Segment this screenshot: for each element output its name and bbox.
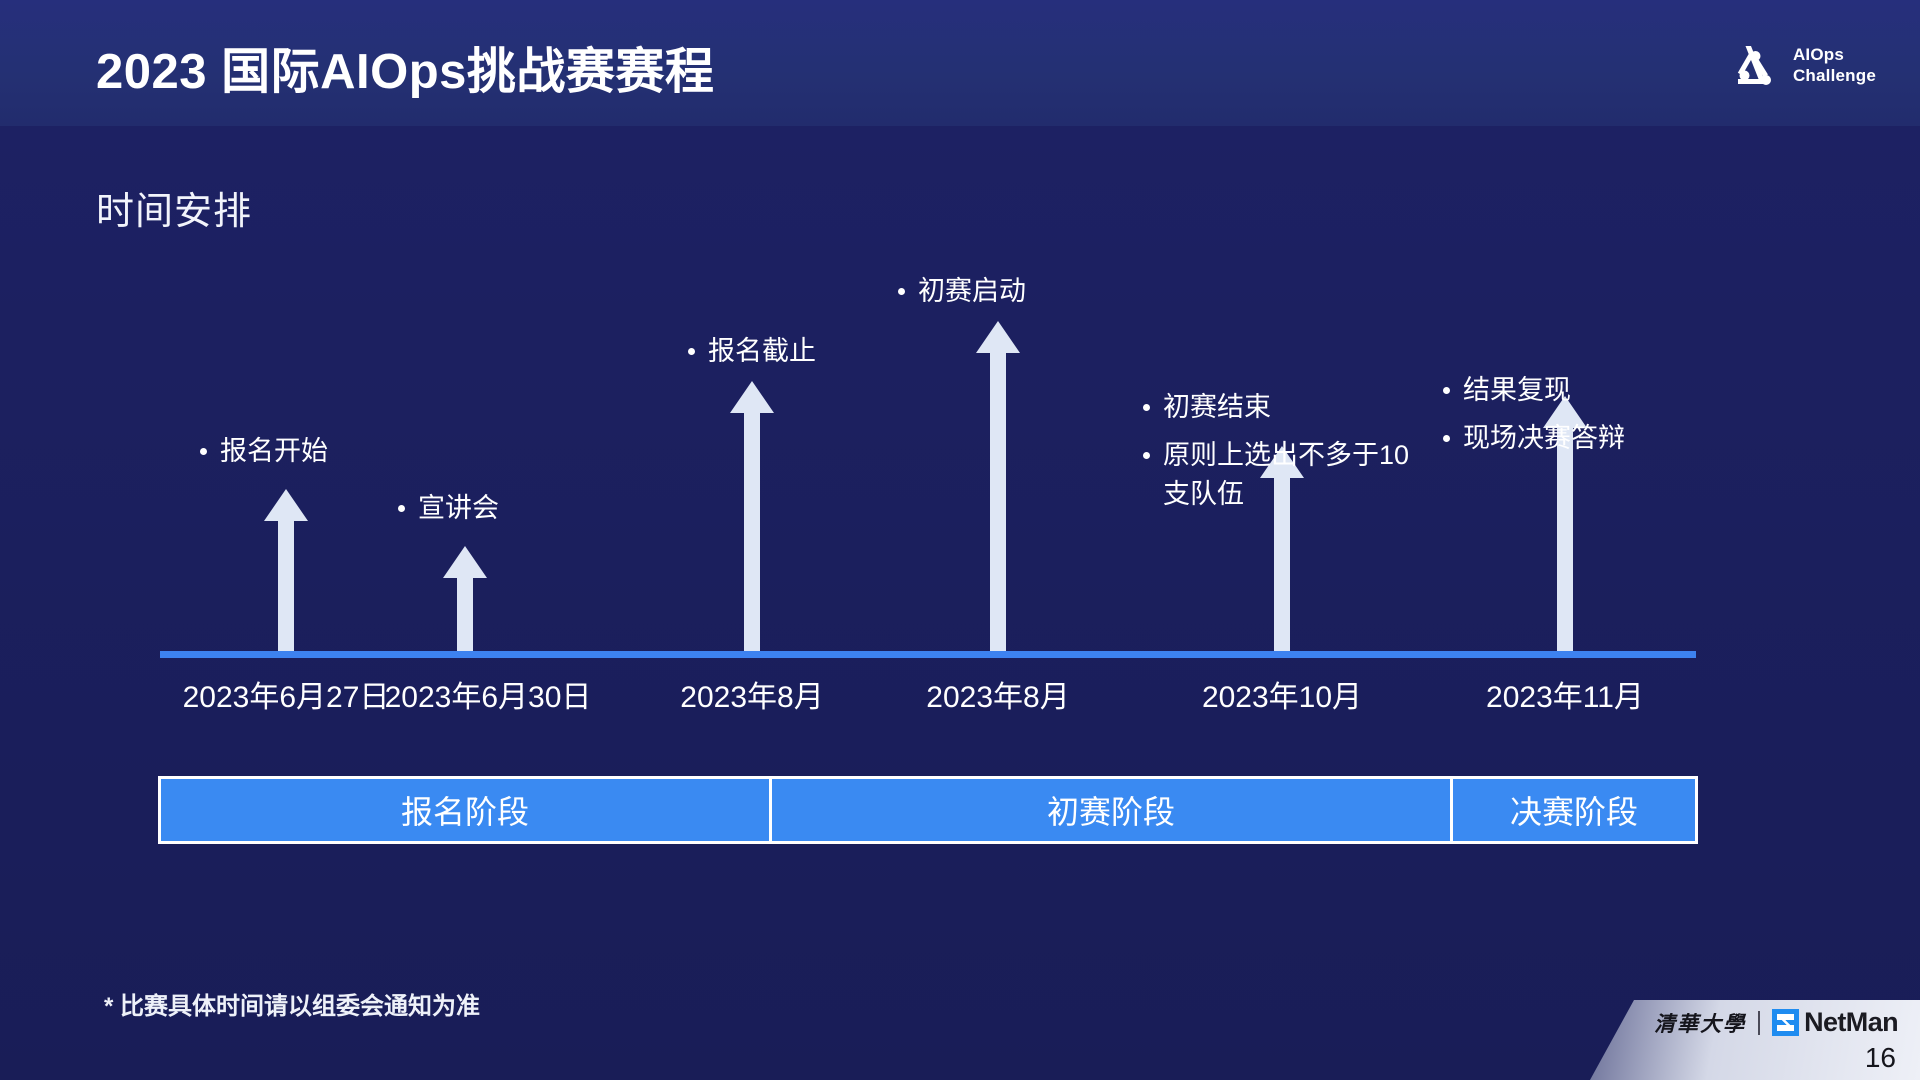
milestone-arrow-1 — [443, 546, 487, 651]
milestone-labels-0: 报名开始 — [200, 432, 328, 470]
aiops-wordmark: AIOps Challenge — [1793, 45, 1876, 86]
timeline-date-3: 2023年8月 — [883, 672, 1113, 716]
list-item: 初赛启动 — [898, 272, 1026, 310]
timeline-date-1: 2023年6月30日 — [338, 672, 638, 716]
list-item: 现场决赛答辩 — [1443, 419, 1625, 457]
timeline-date-5: 2023年11月 — [1435, 672, 1695, 716]
aiops-triangle-nodes-icon — [1725, 40, 1781, 92]
timeline-axis — [160, 651, 1696, 658]
milestone-label-text: 现场决赛答辩 — [1463, 419, 1625, 457]
bullet-icon — [898, 288, 905, 295]
footer-logos: 清華大學 NetMan — [1654, 1007, 1898, 1038]
list-item: 报名截止 — [688, 332, 816, 370]
netman-wordmark: NetMan — [1804, 1007, 1898, 1038]
milestone-label-text: 初赛结束 — [1163, 388, 1271, 426]
netman-logo: NetMan — [1772, 1007, 1898, 1038]
list-item: 报名开始 — [200, 432, 328, 470]
list-item: 原则上选出不多于10支队伍 — [1143, 436, 1413, 513]
milestone-arrow-2 — [730, 381, 774, 651]
timeline-date-2: 2023年8月 — [637, 672, 867, 716]
milestone-arrow-0 — [264, 489, 308, 651]
bullet-icon — [398, 505, 405, 512]
milestone-labels-5: 结果复现 现场决赛答辩 — [1443, 371, 1625, 458]
tsinghua-university-logo: 清華大學 — [1654, 1008, 1746, 1038]
timeline-date-4: 2023年10月 — [1152, 672, 1412, 716]
milestone-label-text: 原则上选出不多于10支队伍 — [1163, 436, 1413, 513]
page-title: 2023 国际AIOps挑战赛赛程 — [96, 32, 714, 103]
milestone-labels-3: 初赛启动 — [898, 272, 1026, 310]
milestone-labels-1: 宣讲会 — [398, 489, 499, 527]
milestone-label-text: 报名截止 — [708, 332, 816, 370]
slide-number: 16 — [1865, 1042, 1896, 1074]
milestone-label-text: 宣讲会 — [418, 489, 499, 527]
logo-line-1: AIOps — [1793, 45, 1844, 64]
bullet-icon — [1143, 452, 1150, 459]
section-heading: 时间安排 — [96, 180, 252, 235]
list-item: 初赛结束 — [1143, 388, 1413, 426]
milestone-label-text: 结果复现 — [1463, 371, 1571, 409]
bullet-icon — [1443, 435, 1450, 442]
bullet-icon — [688, 348, 695, 355]
phase-segment-final[interactable]: 决赛阶段 — [1450, 779, 1695, 841]
footnote-text: * 比赛具体时间请以组委会通知为准 — [104, 986, 480, 1021]
aiops-challenge-logo: AIOps Challenge — [1725, 40, 1876, 92]
netman-mark-icon — [1772, 1009, 1799, 1036]
milestone-labels-4: 初赛结束 原则上选出不多于10支队伍 — [1143, 388, 1413, 513]
bullet-icon — [1143, 404, 1150, 411]
milestone-labels-2: 报名截止 — [688, 332, 816, 370]
phase-bar: 报名阶段 初赛阶段 决赛阶段 — [158, 776, 1698, 844]
milestone-label-text: 报名开始 — [220, 432, 328, 470]
list-item: 结果复现 — [1443, 371, 1625, 409]
phase-segment-preliminary[interactable]: 初赛阶段 — [769, 779, 1450, 841]
footer-divider — [1758, 1011, 1760, 1035]
logo-line-2: Challenge — [1793, 66, 1876, 85]
slide-canvas: 2023 国际AIOps挑战赛赛程 AIOps Ch — [0, 0, 1920, 1080]
header-band: 2023 国际AIOps挑战赛赛程 AIOps Ch — [0, 0, 1920, 126]
phase-segment-registration[interactable]: 报名阶段 — [161, 779, 769, 841]
milestone-arrow-3 — [976, 321, 1020, 651]
bullet-icon — [1443, 387, 1450, 394]
bullet-icon — [200, 448, 207, 455]
milestone-label-text: 初赛启动 — [918, 272, 1026, 310]
list-item: 宣讲会 — [398, 489, 499, 527]
